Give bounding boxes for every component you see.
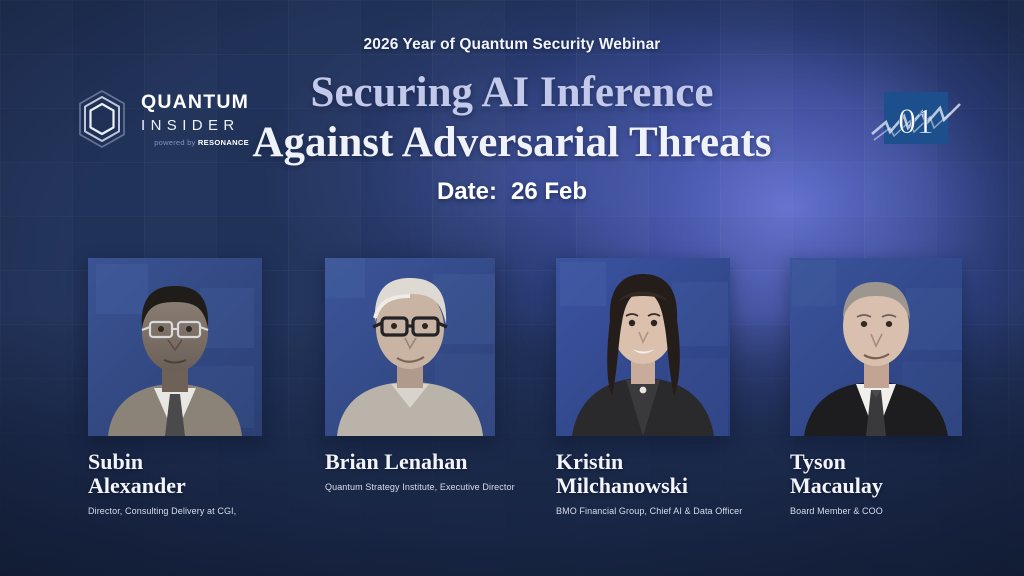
speaker-text: Brian Lenahan Quantum Strategy Institute… [325,450,525,493]
speaker-name: Tyson Macaulay [790,450,980,498]
speaker-name: Brian Lenahan [325,450,525,474]
speaker-text: Tyson Macaulay Board Member & COO [790,450,980,517]
speaker-title: BMO Financial Group, Chief AI & Data Off… [556,505,756,517]
speaker-name-line-1: Kristin [556,449,623,474]
speaker-card: Tyson Macaulay Board Member & COO [790,258,980,517]
speaker-text: Subin Alexander Director, Consulting Del… [88,450,272,517]
speaker-list: Subin Alexander Director, Consulting Del… [0,0,1024,576]
speaker-name-line-2: Alexander [88,473,186,498]
speaker-name-line-1: Subin [88,449,143,474]
speaker-card: Subin Alexander Director, Consulting Del… [88,258,272,517]
speaker-title: Board Member & COO [790,505,980,517]
webinar-banner: QUANTUM INSIDER powered by RESONANCE 01 … [0,0,1024,576]
speaker-title: Quantum Strategy Institute, Executive Di… [325,481,525,493]
speaker-name-line-2: Milchanowski [556,473,688,498]
speaker-name-line-1: Tyson [790,449,846,474]
speaker-name-line-2: Macaulay [790,473,883,498]
speaker-card: Kristin Milchanowski BMO Financial Group… [556,258,756,517]
speaker-title: Director, Consulting Delivery at CGI, [88,505,272,517]
speaker-card: Brian Lenahan Quantum Strategy Institute… [325,258,525,493]
speaker-photo [556,258,730,436]
speaker-name: Subin Alexander [88,450,272,498]
speaker-photo [325,258,495,436]
speaker-name-line-1: Brian Lenahan [325,449,467,474]
speaker-text: Kristin Milchanowski BMO Financial Group… [556,450,756,517]
speaker-photo [790,258,962,436]
speaker-photo [88,258,262,436]
speaker-name: Kristin Milchanowski [556,450,756,498]
